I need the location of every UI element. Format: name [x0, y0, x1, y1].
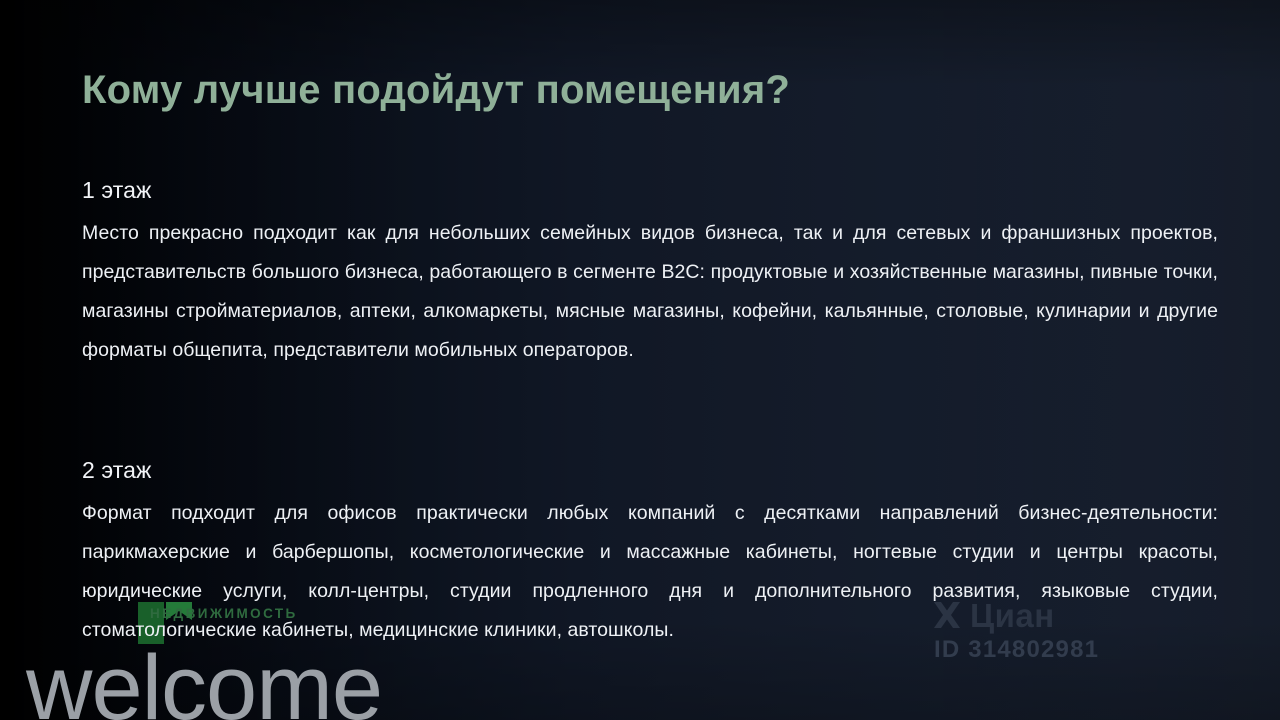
section-heading-floor-1: 1 этаж	[82, 177, 1218, 204]
section-floor-2: 2 этаж Формат подходит для офисов практи…	[82, 457, 1218, 650]
section-heading-floor-2: 2 этаж	[82, 457, 1218, 484]
section-floor-1: 1 этаж Место прекрасно подходит как для …	[82, 177, 1218, 370]
page-title: Кому лучше подойдут помещения?	[82, 68, 790, 113]
section-body-floor-1: Место прекрасно подходит как для небольш…	[82, 214, 1218, 370]
presentation-slide: Кому лучше подойдут помещения? 1 этаж Ме…	[0, 0, 1280, 720]
slide-content: Кому лучше подойдут помещения? 1 этаж Ме…	[82, 0, 1218, 720]
section-body-floor-2: Формат подходит для офисов практически л…	[82, 494, 1218, 650]
